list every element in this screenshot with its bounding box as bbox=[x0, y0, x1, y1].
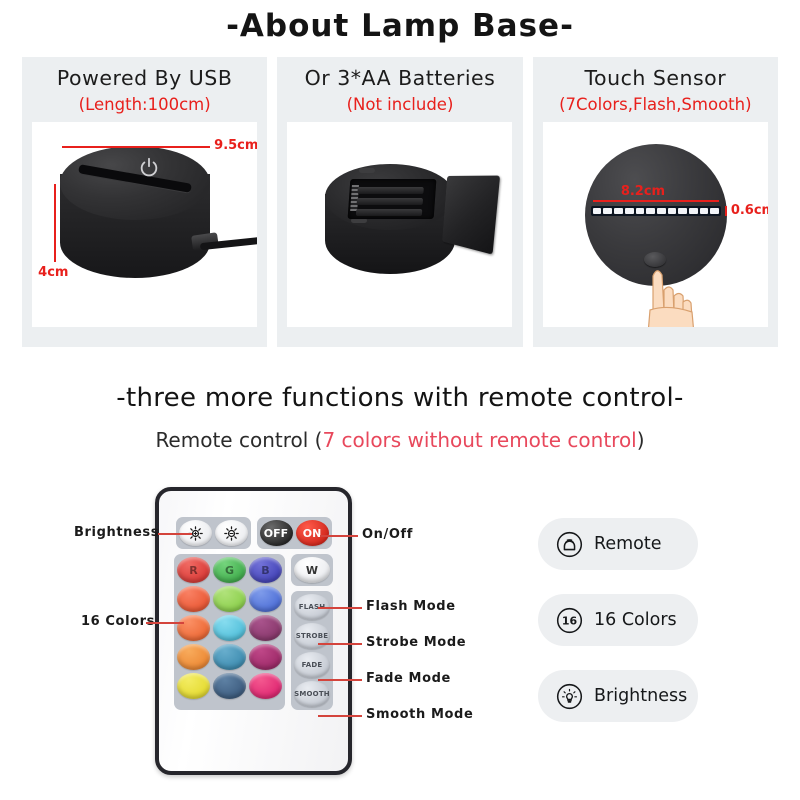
color-button-5[interactable] bbox=[213, 615, 246, 641]
panel-touch-sensor: Touch Sensor (7Colors,Flash,Smooth) 8.2c… bbox=[533, 57, 778, 347]
white-button-group: W bbox=[291, 554, 333, 586]
panel-subtitle-touch: (7Colors,Flash,Smooth) bbox=[559, 95, 751, 114]
led-segment bbox=[700, 208, 709, 214]
battery-cell-1 bbox=[358, 187, 424, 194]
section-subtitle-remote: Remote control (7 colors without remote … bbox=[0, 428, 800, 452]
color-button-4[interactable] bbox=[177, 615, 210, 641]
panel-title-touch: Touch Sensor bbox=[585, 66, 727, 90]
strip-height-label: 0.6cm bbox=[731, 203, 768, 218]
color-button-2[interactable] bbox=[213, 586, 246, 612]
strobe-mode-button[interactable]: STROBE bbox=[294, 623, 330, 649]
panel-subtitle-usb: (Length:100cm) bbox=[79, 95, 211, 114]
led-strip bbox=[591, 206, 721, 216]
lightbulb-icon bbox=[556, 683, 583, 710]
sixteen-circle-icon: 16 bbox=[556, 607, 583, 634]
touch-sensor-photo: 8.2cm 0.6cm bbox=[543, 122, 768, 327]
width-dimension-line bbox=[62, 146, 210, 148]
strip-width-label: 8.2cm bbox=[621, 184, 665, 199]
led-segment bbox=[593, 208, 602, 214]
subtitle-tail: ) bbox=[637, 428, 645, 452]
power-on-button[interactable]: ON bbox=[296, 520, 329, 546]
mode-button-group: FLASH STROBE FADE SMOOTH bbox=[291, 591, 333, 710]
color-button-6[interactable] bbox=[249, 615, 282, 641]
strip-width-line bbox=[593, 200, 719, 202]
power-off-button[interactable]: OFF bbox=[260, 520, 293, 546]
led-segment bbox=[710, 208, 719, 214]
color-button-12[interactable] bbox=[249, 673, 282, 699]
led-segment bbox=[657, 208, 666, 214]
subtitle-plain: Remote control ( bbox=[155, 428, 322, 452]
width-dimension-label: 9.5cm bbox=[214, 138, 257, 153]
remote-control: OFF ON R G B W FLASH bbox=[155, 487, 352, 775]
led-segment bbox=[646, 208, 655, 214]
panel-powered-by-usb: Powered By USB (Length:100cm) 9.5cm 4cm bbox=[22, 57, 267, 347]
hand-pointing-icon bbox=[635, 256, 701, 327]
callout-16-colors: 16 Colors bbox=[81, 614, 155, 629]
battery-lid bbox=[443, 176, 501, 255]
led-segment bbox=[678, 208, 687, 214]
callout-flash-mode: Flash Mode bbox=[366, 599, 456, 614]
strip-height-line bbox=[725, 206, 727, 216]
battery-well bbox=[348, 179, 437, 219]
leader-brightness bbox=[158, 533, 192, 535]
feature-pill-label: 16 Colors bbox=[594, 610, 677, 630]
brightness-down-icon bbox=[223, 525, 240, 542]
led-segment bbox=[689, 208, 698, 214]
panel-subtitle-battery: (Not include) bbox=[347, 95, 454, 114]
panel-title-usb: Powered By USB bbox=[57, 66, 232, 90]
callout-brightness: Brightness bbox=[74, 525, 159, 540]
remote-body-row: R G B W FLASH STROBE FADE SM bbox=[169, 554, 338, 710]
height-dimension-line bbox=[54, 184, 56, 262]
panel-title-battery: Or 3*AA Batteries bbox=[305, 66, 496, 90]
feature-pill-brightness[interactable]: Brightness bbox=[538, 670, 698, 722]
feature-pill-label: Remote bbox=[594, 534, 662, 554]
leader-flash-mode bbox=[318, 607, 362, 609]
led-segment bbox=[668, 208, 677, 214]
feature-pill-16-colors[interactable]: 16 16 Colors bbox=[538, 594, 698, 646]
led-segment bbox=[636, 208, 645, 214]
feature-pill-label: Brightness bbox=[594, 686, 687, 706]
leader-on-off bbox=[320, 535, 358, 537]
leader-16-colors bbox=[146, 622, 184, 624]
base-notch-top bbox=[359, 168, 375, 173]
leader-strobe-mode bbox=[318, 643, 362, 645]
remote-signal-icon bbox=[556, 531, 583, 558]
page-title: -About Lamp Base- bbox=[0, 8, 800, 44]
leader-fade-mode bbox=[318, 679, 362, 681]
callout-on-off: On/Off bbox=[362, 527, 413, 542]
color-button-3[interactable] bbox=[249, 586, 282, 612]
feature-pill-remote[interactable]: Remote bbox=[538, 518, 698, 570]
feature-panels: Powered By USB (Length:100cm) 9.5cm 4cm … bbox=[22, 57, 778, 347]
section-title-remote: -three more functions with remote contro… bbox=[0, 383, 800, 413]
feature-pill-list: Remote 16 16 Colors Brightness bbox=[538, 518, 698, 722]
power-button-group: OFF ON bbox=[257, 517, 332, 549]
led-segment bbox=[614, 208, 623, 214]
battery-compartment-photo bbox=[287, 122, 512, 327]
fade-mode-button[interactable]: FADE bbox=[294, 652, 330, 678]
smooth-mode-button[interactable]: SMOOTH bbox=[294, 681, 330, 707]
battery-cell-2 bbox=[357, 198, 423, 205]
color-button-10[interactable] bbox=[177, 673, 210, 699]
height-dimension-label: 4cm bbox=[38, 265, 68, 280]
led-segment bbox=[625, 208, 634, 214]
led-segment bbox=[603, 208, 612, 214]
svg-text:16: 16 bbox=[562, 614, 578, 627]
lamp-base-usb-photo: 9.5cm 4cm bbox=[32, 122, 257, 327]
callout-fade-mode: Fade Mode bbox=[366, 671, 451, 686]
battery-cell-3 bbox=[356, 209, 422, 216]
color-button-blue[interactable]: B bbox=[249, 557, 282, 583]
panel-aa-batteries: Or 3*AA Batteries (Not include) bbox=[277, 57, 522, 347]
color-button-1[interactable] bbox=[177, 586, 210, 612]
color-button-white[interactable]: W bbox=[294, 557, 330, 583]
remote-right-column: W FLASH STROBE FADE SMOOTH bbox=[291, 554, 333, 710]
callout-smooth-mode: Smooth Mode bbox=[366, 707, 473, 722]
color-button-red[interactable]: R bbox=[177, 557, 210, 583]
color-button-green[interactable]: G bbox=[213, 557, 246, 583]
color-button-11[interactable] bbox=[213, 673, 246, 699]
color-button-8[interactable] bbox=[213, 644, 246, 670]
callout-strobe-mode: Strobe Mode bbox=[366, 635, 466, 650]
color-button-9[interactable] bbox=[249, 644, 282, 670]
leader-smooth-mode bbox=[318, 715, 362, 717]
remote-top-row: OFF ON bbox=[169, 517, 338, 549]
power-icon bbox=[138, 156, 160, 178]
color-button-7[interactable] bbox=[177, 644, 210, 670]
subtitle-highlight: 7 colors without remote control bbox=[322, 428, 636, 452]
color-button-grid: R G B bbox=[174, 554, 285, 710]
brightness-down-button[interactable] bbox=[215, 520, 248, 546]
